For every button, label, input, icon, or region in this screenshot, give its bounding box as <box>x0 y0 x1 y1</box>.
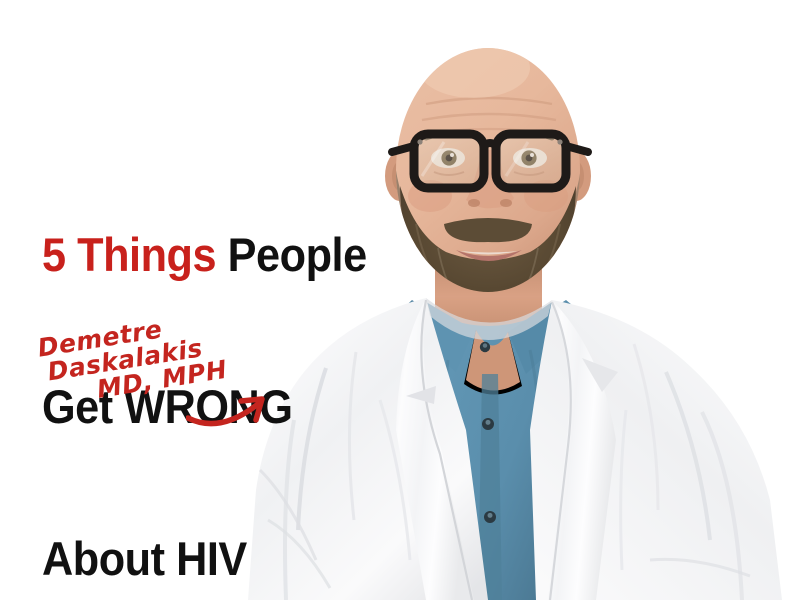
headline-line-1-rest: People <box>216 228 367 281</box>
shirt-button-highlight <box>488 513 493 518</box>
head-highlight <box>418 38 530 98</box>
headline-accent: 5 Things <box>42 228 216 281</box>
headline-line-3: About HIV <box>42 534 428 585</box>
glasses-hinge-right <box>557 139 562 144</box>
glasses-bridge <box>484 143 496 146</box>
headline-line-1: 5 Things People <box>42 230 428 281</box>
moustache <box>444 218 532 242</box>
nostril-right <box>500 199 512 207</box>
shirt-button-highlight <box>483 343 487 347</box>
nostril-left <box>468 199 480 207</box>
shirt-button-highlight <box>486 420 491 425</box>
poster-canvas: 5 Things People Get WRONG About HIV Deme… <box>0 0 800 600</box>
lens-right <box>496 134 566 188</box>
